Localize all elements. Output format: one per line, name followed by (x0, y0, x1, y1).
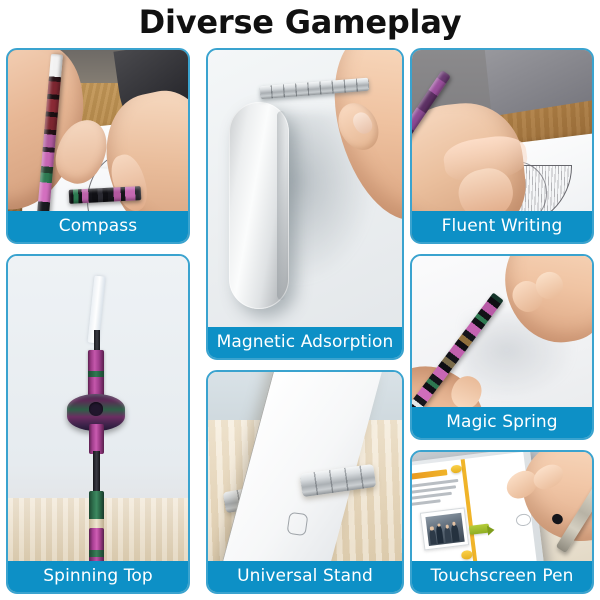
screen-green-arrow (486, 525, 494, 536)
feature-card-universal-stand[interactable]: Universal Stand (206, 370, 404, 594)
photo-person (429, 529, 437, 545)
caption-universal-stand: Universal Stand (208, 561, 402, 592)
spinning-top-photo (8, 256, 188, 592)
door-handle (229, 102, 289, 308)
caption-compass: Compass (8, 211, 188, 242)
feature-card-magnetic-adsorption[interactable]: Magnetic Adsorption (206, 48, 404, 360)
photo-person-head (452, 522, 456, 526)
screen-heading (412, 470, 447, 481)
product-feature-collage: Diverse Gameplay Compass (0, 0, 600, 600)
screen-text-line (412, 492, 452, 500)
top-ring-hole (89, 402, 103, 415)
screen-badge-bottom (460, 550, 472, 560)
screen-photo-frame (420, 507, 469, 550)
top-bead-1 (88, 350, 104, 397)
feature-card-compass[interactable]: Compass (6, 48, 190, 244)
top-bead-3 (89, 491, 104, 521)
photo-person (444, 527, 451, 542)
screen-badge-top (450, 464, 462, 474)
photo-person-head (430, 526, 434, 530)
feature-card-touchscreen-pen[interactable]: Touchscreen Pen (410, 450, 594, 594)
top-bead-5 (89, 528, 104, 552)
magnetic-adsorption-photo (208, 50, 402, 358)
caption-spinning-top: Spinning Top (8, 561, 188, 592)
screen-text-line (412, 500, 440, 507)
screen-meeting-photo (425, 513, 464, 546)
feature-card-fluent-writing[interactable]: Fluent Writing (410, 48, 594, 244)
photo-person (451, 524, 459, 541)
top-rod-lower (93, 451, 99, 495)
photo-person (436, 525, 444, 543)
universal-stand-photo (208, 372, 402, 592)
caption-fluent-writing: Fluent Writing (412, 211, 592, 242)
caption-magnetic-adsorption: Magnetic Adsorption (208, 327, 402, 358)
caption-touchscreen-pen: Touchscreen Pen (412, 561, 592, 592)
stand-tablet-slot (286, 512, 308, 536)
page-title: Diverse Gameplay (0, 2, 600, 42)
caption-magic-spring: Magic Spring (412, 407, 592, 438)
feature-card-magic-spring[interactable]: Magic Spring (410, 254, 594, 440)
top-bead-2 (89, 424, 104, 454)
feature-card-spinning-top[interactable]: Spinning Top (6, 254, 190, 594)
